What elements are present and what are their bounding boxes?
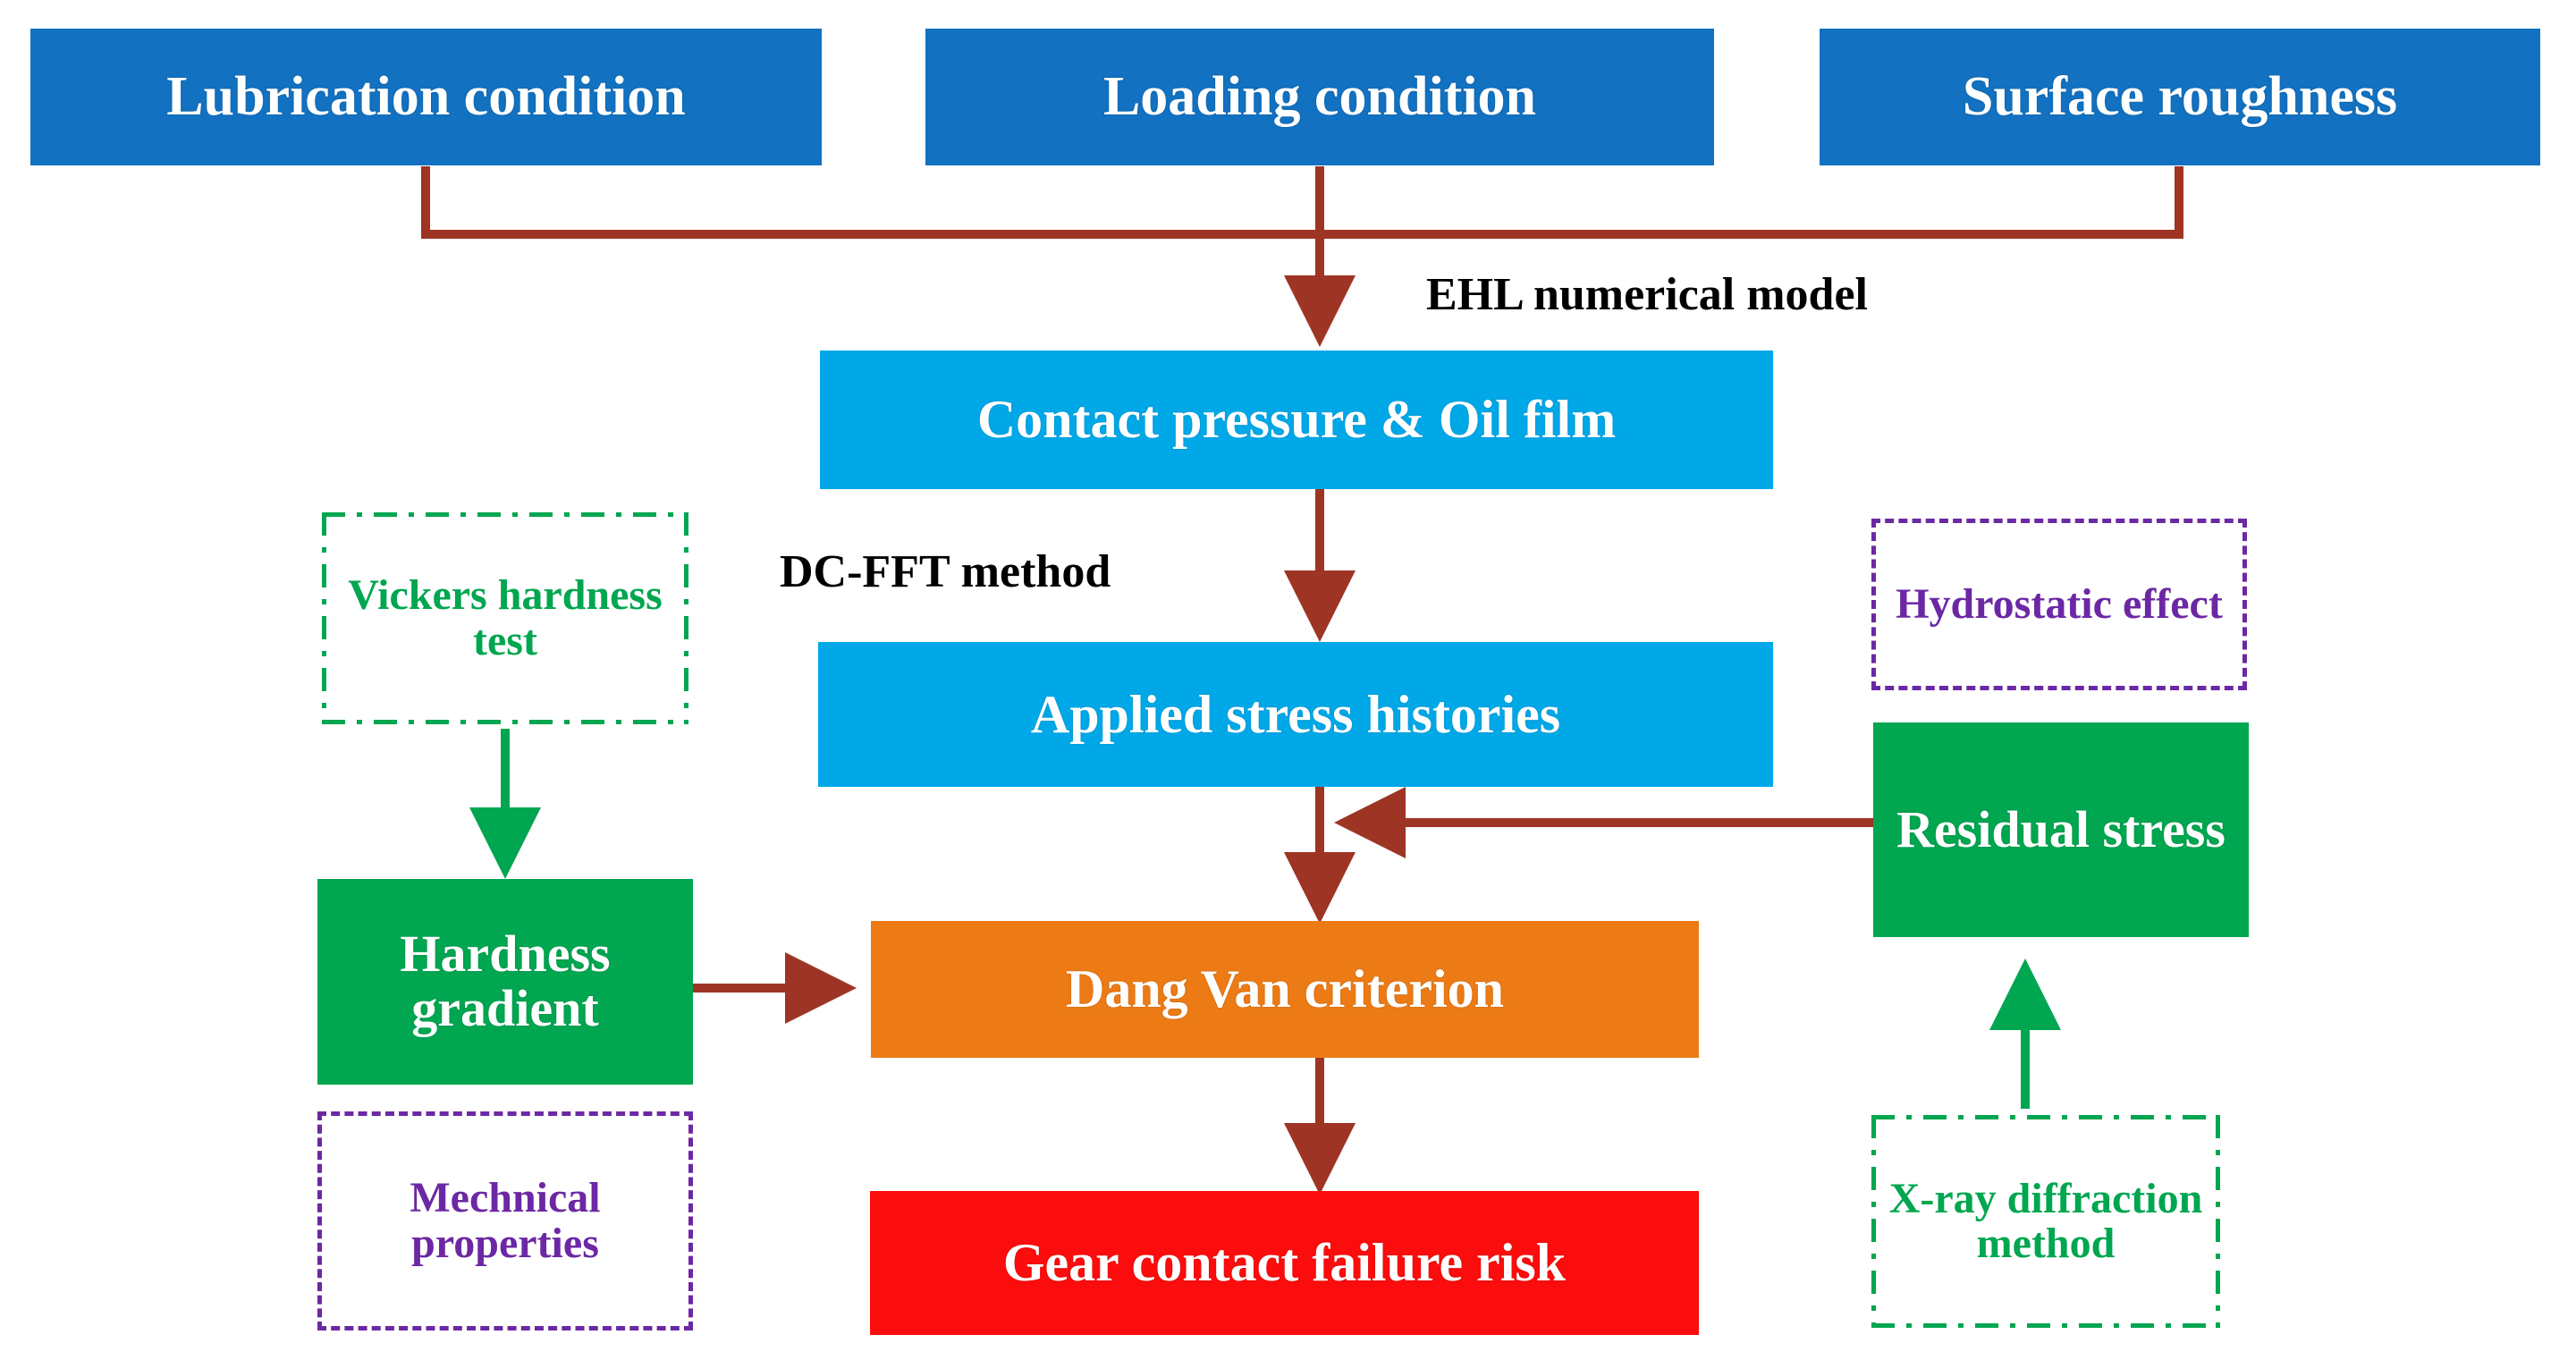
wire-lubrication-to-trunk	[426, 166, 1320, 234]
node-hydrostatic-effect-label: Hydrostatic effect	[1896, 582, 2223, 627]
edge-label-dc-fft-method: DC-FFT method	[780, 545, 1111, 598]
flowchart-canvas: Lubrication condition Loading condition …	[0, 0, 2576, 1360]
node-hydrostatic-effect[interactable]: Hydrostatic effect	[1871, 519, 2247, 690]
node-contact-pressure-oil-film[interactable]: Contact pressure & Oil film	[820, 351, 1773, 489]
node-hardness-gradient-label: Hardness gradient	[328, 927, 682, 1036]
wire-roughness-to-trunk	[1320, 166, 2179, 234]
node-dang-van-criterion[interactable]: Dang Van criterion	[871, 921, 1699, 1058]
edge-label-dc-fft-text: DC-FFT method	[780, 546, 1111, 597]
node-mechnical-properties-label: Mechnical properties	[342, 1176, 669, 1266]
node-vickers-hardness-test-label: Vickers hardness test	[342, 573, 668, 663]
node-gear-contact-failure-risk[interactable]: Gear contact failure risk	[870, 1191, 1699, 1335]
node-hardness-gradient[interactable]: Hardness gradient	[317, 879, 693, 1085]
node-applied-stress-histories[interactable]: Applied stress histories	[818, 642, 1773, 787]
node-contact-pressure-oil-film-label: Contact pressure & Oil film	[977, 392, 1616, 448]
node-surface-roughness-label: Surface roughness	[1963, 68, 2397, 126]
node-vickers-hardness-test[interactable]: Vickers hardness test	[317, 508, 693, 729]
node-xray-diffraction-method[interactable]: X-ray diffraction method	[1867, 1111, 2225, 1332]
node-applied-stress-histories-label: Applied stress histories	[1031, 687, 1560, 743]
node-dang-van-criterion-label: Dang Van criterion	[1066, 961, 1504, 1018]
node-loading-condition-label: Loading condition	[1103, 68, 1536, 126]
node-loading-condition[interactable]: Loading condition	[925, 29, 1714, 165]
node-residual-stress[interactable]: Residual stress	[1873, 722, 2249, 937]
node-gear-contact-failure-risk-label: Gear contact failure risk	[1003, 1235, 1566, 1291]
edge-label-ehl-numerical-model: EHL numerical model	[1426, 268, 1868, 321]
edge-label-ehl-text: EHL numerical model	[1426, 269, 1868, 320]
node-xray-diffraction-method-label: X-ray diffraction method	[1883, 1177, 2209, 1267]
node-lubrication-condition-label: Lubrication condition	[166, 68, 686, 126]
node-surface-roughness[interactable]: Surface roughness	[1820, 29, 2540, 165]
node-residual-stress-label: Residual stress	[1896, 803, 2225, 857]
node-lubrication-condition[interactable]: Lubrication condition	[30, 29, 822, 165]
node-mechnical-properties[interactable]: Mechnical properties	[317, 1111, 693, 1330]
